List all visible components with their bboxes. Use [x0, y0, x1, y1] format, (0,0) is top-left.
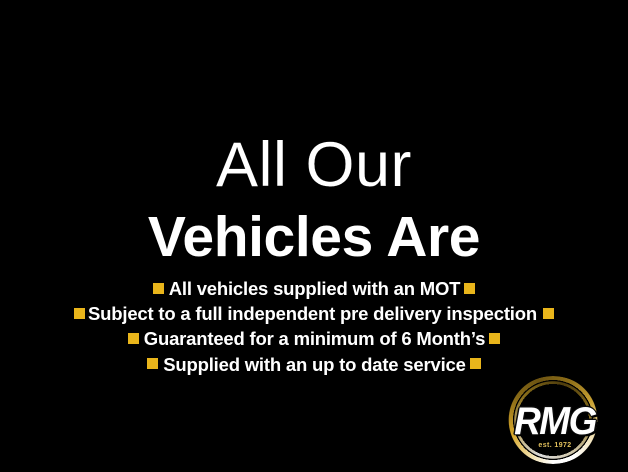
- headline-secondary: Vehicles Are: [0, 204, 628, 270]
- headline-group: All Our Vehicles Are: [0, 128, 628, 270]
- rmg-logo: RMG est. 1972: [498, 374, 612, 466]
- feature-bullet-list: All vehicles supplied with an MOT Subjec…: [0, 277, 628, 378]
- list-item-label: Supplied with an up to date service: [163, 354, 465, 375]
- square-bullet-icon: [464, 283, 475, 294]
- promo-slide: All Our Vehicles Are All vehicles suppli…: [0, 0, 628, 472]
- logo-established-text: est. 1972: [498, 441, 612, 450]
- headline-primary: All Our: [0, 128, 628, 202]
- square-bullet-icon: [543, 308, 554, 319]
- list-item-label: Guaranteed for a minimum of 6 Month’s: [144, 328, 485, 349]
- square-bullet-icon: [470, 358, 481, 369]
- list-item-label: All vehicles supplied with an MOT: [169, 278, 461, 299]
- square-bullet-icon: [74, 308, 85, 319]
- list-item: All vehicles supplied with an MOT: [0, 277, 628, 301]
- square-bullet-icon: [153, 283, 164, 294]
- square-bullet-icon: [147, 358, 158, 369]
- list-item: Subject to a full independent pre delive…: [0, 302, 628, 326]
- list-item: Guaranteed for a minimum of 6 Month’s: [0, 327, 628, 351]
- square-bullet-icon: [128, 333, 139, 344]
- list-item-label: Subject to a full independent pre delive…: [88, 303, 537, 324]
- logo-wordmark: RMG: [498, 401, 612, 440]
- square-bullet-icon: [489, 333, 500, 344]
